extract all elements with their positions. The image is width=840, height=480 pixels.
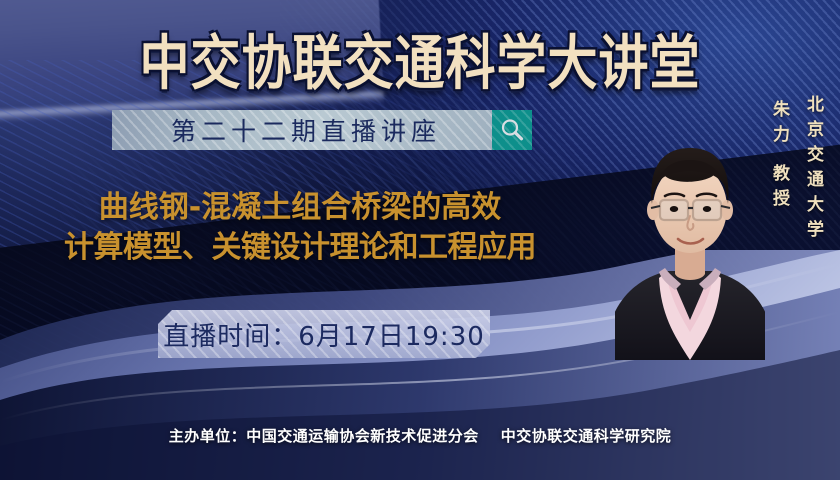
organizer-secondary: 中交协联交通科学研究院 <box>501 427 672 445</box>
speaker-name: 朱力 教授 <box>767 100 792 214</box>
episode-banner: 第二十二期直播讲座 <box>112 110 492 150</box>
speaker-portrait <box>615 128 765 360</box>
live-lecture-poster: 中交协联交通科学大讲堂 第二十二期直播讲座 曲线钢-混凝土组合桥梁的高效 计算模… <box>0 0 840 480</box>
broadcast-time-banner: 直播时间：6月17日19:30 <box>158 310 490 358</box>
poster-content: 中交协联交通科学大讲堂 第二十二期直播讲座 曲线钢-混凝土组合桥梁的高效 计算模… <box>0 0 840 480</box>
page-title: 中交协联交通科学大讲堂 <box>0 16 840 101</box>
lecture-title-line-2: 计算模型、关键设计理论和工程应用 <box>0 228 600 268</box>
organizer-footer: 主办单位：中国交通运输协会新技术促进分会中交协联交通科学研究院 <box>0 425 840 446</box>
organizer-primary: 主办单位：中国交通运输协会新技术促进分会 <box>169 427 479 445</box>
search-icon <box>499 117 525 143</box>
episode-banner-label: 第二十二期直播讲座 <box>163 112 441 148</box>
speaker-affiliation: 北京交通大学 <box>801 95 826 245</box>
lecture-title: 曲线钢-混凝土组合桥梁的高效 计算模型、关键设计理论和工程应用 <box>0 188 600 268</box>
broadcast-time-text: 直播时间：6月17日19:30 <box>163 316 485 353</box>
lecture-title-line-1: 曲线钢-混凝土组合桥梁的高效 <box>0 188 600 228</box>
search-icon-box[interactable] <box>492 110 532 150</box>
